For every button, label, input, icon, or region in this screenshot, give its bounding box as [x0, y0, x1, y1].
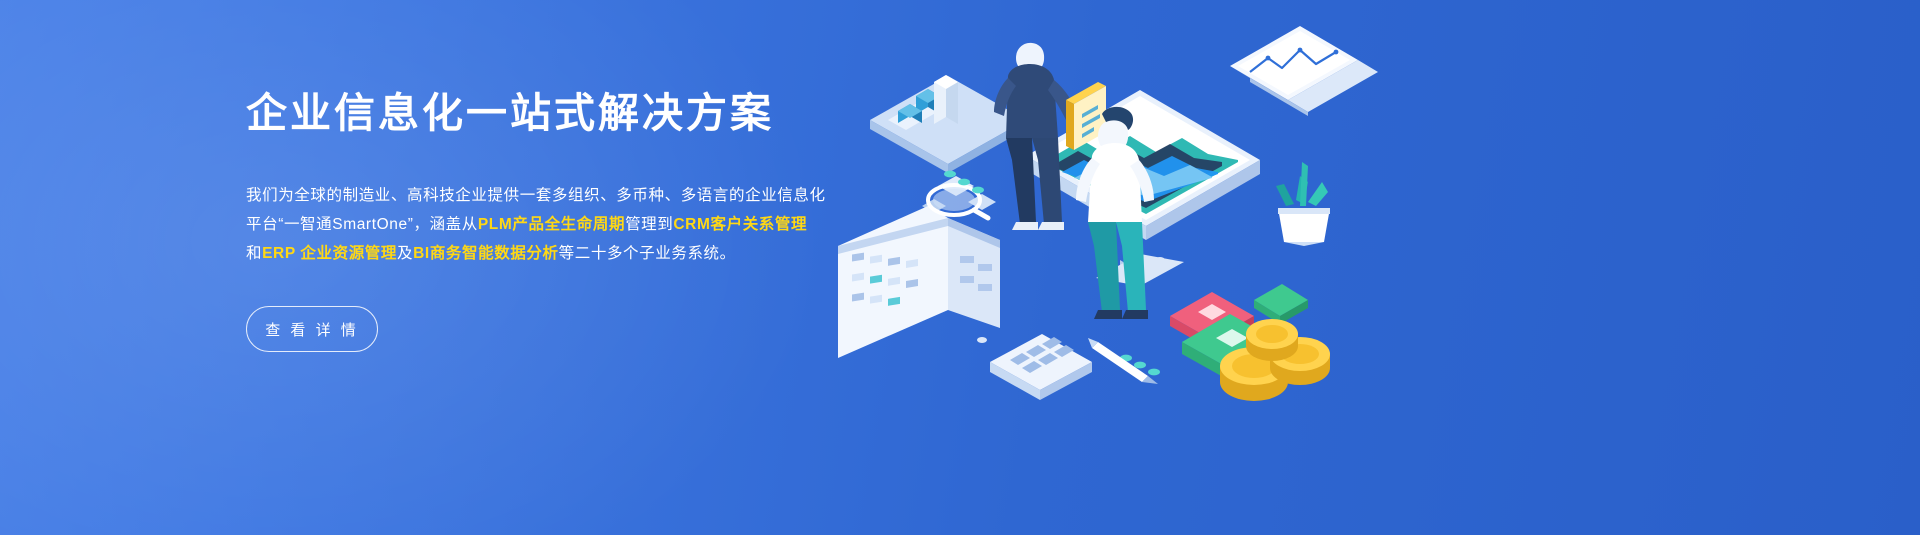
desc-l2-highlight-crm: CRM客户关系管理 [673, 216, 807, 233]
calculator [990, 334, 1092, 400]
hero-description: 我们为全球的制造业、高科技企业提供一套多组织、多币种、多语言的企业信息化 平台“… [246, 181, 946, 268]
description-line-3: 和ERP 企业资源管理及BI商务智能数据分析等二十多个子业务系统。 [246, 239, 946, 268]
potted-plant [1276, 162, 1330, 246]
laptop-line-chart [1230, 26, 1378, 116]
hero-copy: 企业信息化一站式解决方案 我们为全球的制造业、高科技企业提供一套多组织、多币种、… [246, 88, 946, 352]
hero-banner: 企业信息化一站式解决方案 我们为全球的制造业、高科技企业提供一套多组织、多币种、… [0, 0, 1920, 535]
page-title: 企业信息化一站式解决方案 [246, 88, 946, 139]
desc-l2-text-1: 平台“一智通SmartOne”，涵盖从 [246, 216, 478, 233]
desc-l3-text-3: 等二十多个子业务系统。 [559, 245, 736, 262]
desc-l1-text: 我们为全球的制造业、高科技企业提供一套多组织、多币种、多语言的企业信息化 [246, 187, 826, 204]
desc-l2-highlight-plm: PLM产品全生命周期 [478, 216, 625, 233]
desc-l3-highlight-bi: BI商务智能数据分析 [413, 245, 559, 262]
desc-l3-text-2: 及 [397, 245, 413, 262]
desc-l3-highlight-erp: ERP 企业资源管理 [262, 245, 397, 262]
view-details-button[interactable]: 查 看 详 情 [246, 306, 378, 352]
description-line-1: 我们为全球的制造业、高科技企业提供一套多组织、多币种、多语言的企业信息化 [246, 181, 946, 210]
pen [1088, 338, 1158, 384]
desc-l2-text-2: 管理到 [625, 216, 673, 233]
description-line-2: 平台“一智通SmartOne”，涵盖从PLM产品全生命周期管理到CRM客户关系管… [246, 210, 946, 239]
desc-l3-text-1: 和 [246, 245, 262, 262]
